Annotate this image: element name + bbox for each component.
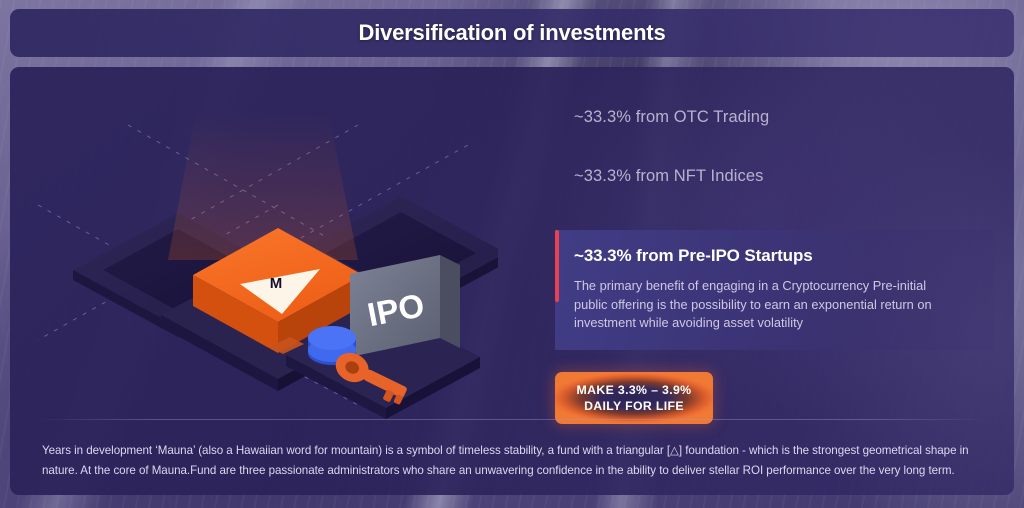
allocation-gap	[555, 126, 995, 168]
allocation-item-preipo-body: The primary benefit of engaging in a Cry…	[574, 277, 940, 333]
isometric-illustration: M IPO	[28, 85, 498, 425]
footnote-divider	[42, 419, 982, 420]
cta-wrapper: MAKE 3.3% – 3.9% DAILY FOR LIFE	[555, 372, 995, 424]
logo-letter-M: M	[270, 275, 283, 292]
footnote-text: Years in development ‘Mauna’ (also a Haw…	[42, 441, 986, 481]
page-title: Diversification of investments	[359, 20, 666, 46]
allocation-item-nft[interactable]: ~33.3% from NFT Indices	[555, 168, 995, 185]
allocation-item-preipo-title: ~33.3% from Pre-IPO Startups	[574, 246, 995, 266]
allocation-item-otc[interactable]: ~33.3% from OTC Trading	[555, 109, 995, 126]
allocation-list: ~33.3% from OTC Trading ~33.3% from NFT …	[555, 109, 995, 424]
cta-line-2: DAILY FOR LIFE	[555, 398, 713, 414]
allocation-item-preipo-card[interactable]: ~33.3% from Pre-IPO Startups The primary…	[555, 230, 995, 350]
header-bar: Diversification of investments	[10, 9, 1014, 57]
make-daily-profit-button[interactable]: MAKE 3.3% – 3.9% DAILY FOR LIFE	[555, 372, 713, 424]
main-panel: M IPO	[10, 67, 1014, 495]
page-root: Diversification of investments	[0, 0, 1024, 508]
cta-line-1: MAKE 3.3% – 3.9%	[555, 382, 713, 398]
accent-bar	[555, 230, 559, 302]
